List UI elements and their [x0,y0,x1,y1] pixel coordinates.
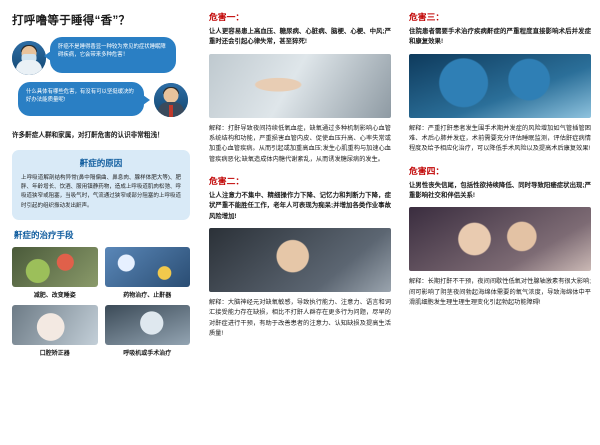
treatment-item: 口腔矫正器 [12,305,98,357]
cause-panel-text: 上呼吸道解剖结构异常(鼻中隔偏曲、鼻息肉、腺样体肥大等)、肥胖、年龄增长、饮酒、… [21,174,181,212]
harm-1-heading: 危害一： [209,10,391,23]
treatment-item: 减肥、改变睡姿 [12,247,98,299]
harm-3-heading: 危害三： [409,10,591,23]
intro-paragraph: 许多鼾症人群和家属，对打鼾危害的认识非常粗浅！ [12,131,190,142]
treatment-caption: 口腔矫正器 [12,348,98,357]
harm-1-lead: 让人更容易患上高血压、糖尿病、心脏病、脑梗、心梗、中风;严重时还会引起心律失常，… [209,27,391,48]
column-left: 打呼噜等于睡得“香”？ 肝癌不是睡得香显一种较为常见的症状睡眠障碍疾病，它会带来… [0,0,200,445]
page-title: 打呼噜等于睡得“香”？ [12,12,192,28]
treatment-grid: 减肥、改变睡姿 药物治疗、止鼾器 口腔矫正器 呼吸机或手术治疗 [12,247,190,357]
treatment-caption: 呼吸机或手术治疗 [105,348,191,357]
treatment-item: 呼吸机或手术治疗 [105,305,191,357]
elderly-woman-sleeping-photo [209,54,391,118]
dialog-illustration: 肝癌不是睡得香显一种较为常见的症状睡眠障碍疾病，它会带来多种危害！ 什么具体有哪… [12,35,194,123]
harm-4-body: 解释：长期打鼾不干预，夜间间歇性低氧对性腺轴激素有很大影响;间可影响了阴茎夜间勃… [409,277,591,308]
doctor-avatar [12,41,46,75]
cpap-surgery-photo [105,305,191,345]
tired-man-photo [209,228,391,292]
harm-4-heading: 危害四： [409,164,591,177]
harm-1-body: 解释：打鼾导致夜间持续低氧血症，缺氧通过多种机制影响心血管系统结构和功能，严重损… [209,124,391,165]
cause-panel: 鼾症的原因 上呼吸道解剖结构异常(鼻中隔偏曲、鼻息肉、腺样体肥大等)、肥胖、年龄… [12,150,190,221]
couple-bed-photo [409,207,591,271]
avatar-suit [158,102,184,117]
treatment-heading: 鼾症的治疗手段 [14,229,190,241]
column-middle: 危害一： 让人更容易患上高血压、糖尿病、心脏病、脑梗、心梗、中风;严重时还会引起… [200,0,400,445]
medication-photo [105,247,191,287]
harm-2-lead: 让人注意力不集中、精细操作力下降、记忆力和判断力下降，症状严重不能胜任工作，老年… [209,191,391,222]
necktie-icon [169,105,173,117]
harm-3-lead: 住院患者需要手术治疗疾病鼾症的严重程度直接影响术后并发症和康复效果! [409,27,591,48]
harm-2-heading: 危害二： [209,174,391,187]
avatar-coat [16,60,42,75]
oral-appliance-photo [12,305,98,345]
speech-bubble-patient: 什么具体有哪些危害，有没有可以坚挺缓决的好办法能质量呢! [18,82,144,116]
harm-3-body: 解释：严重打鼾患者发生围手术期并发症的风险增加如气管插管困难、术后心肺并发症，术… [409,124,591,155]
treatment-caption: 减肥、改变睡姿 [12,290,98,299]
diet-posture-photo [12,247,98,287]
avatar-head [164,88,179,103]
speech-bubble-doctor: 肝癌不是睡得香显一种较为常见的症状睡眠障碍疾病，它会带来多种危害！ [50,37,176,73]
brochure-page: 打呼噜等于睡得“香”？ 肝癌不是睡得香显一种较为常见的症状睡眠障碍疾病，它会带来… [0,0,600,445]
harm-4-lead: 让男性丧失信尾，包括性欲持续降低、同时导致阳痿症状出现;严重影响社交和伴侣关系! [409,181,591,202]
patient-avatar [154,83,188,117]
harm-2-body: 解释：大脑神经元对缺氧敏感，导致执行能力、注意力、语言和词汇接受能力存在缺损，相… [209,298,391,339]
cause-panel-heading: 鼾症的原因 [21,157,181,169]
surgery-operating-room-photo [409,54,591,118]
treatment-item: 药物治疗、止鼾器 [105,247,191,299]
column-right: 危害三： 住院患者需要手术治疗疾病鼾症的严重程度直接影响术后并发症和康复效果! … [400,0,600,445]
treatment-caption: 药物治疗、止鼾器 [105,290,191,299]
